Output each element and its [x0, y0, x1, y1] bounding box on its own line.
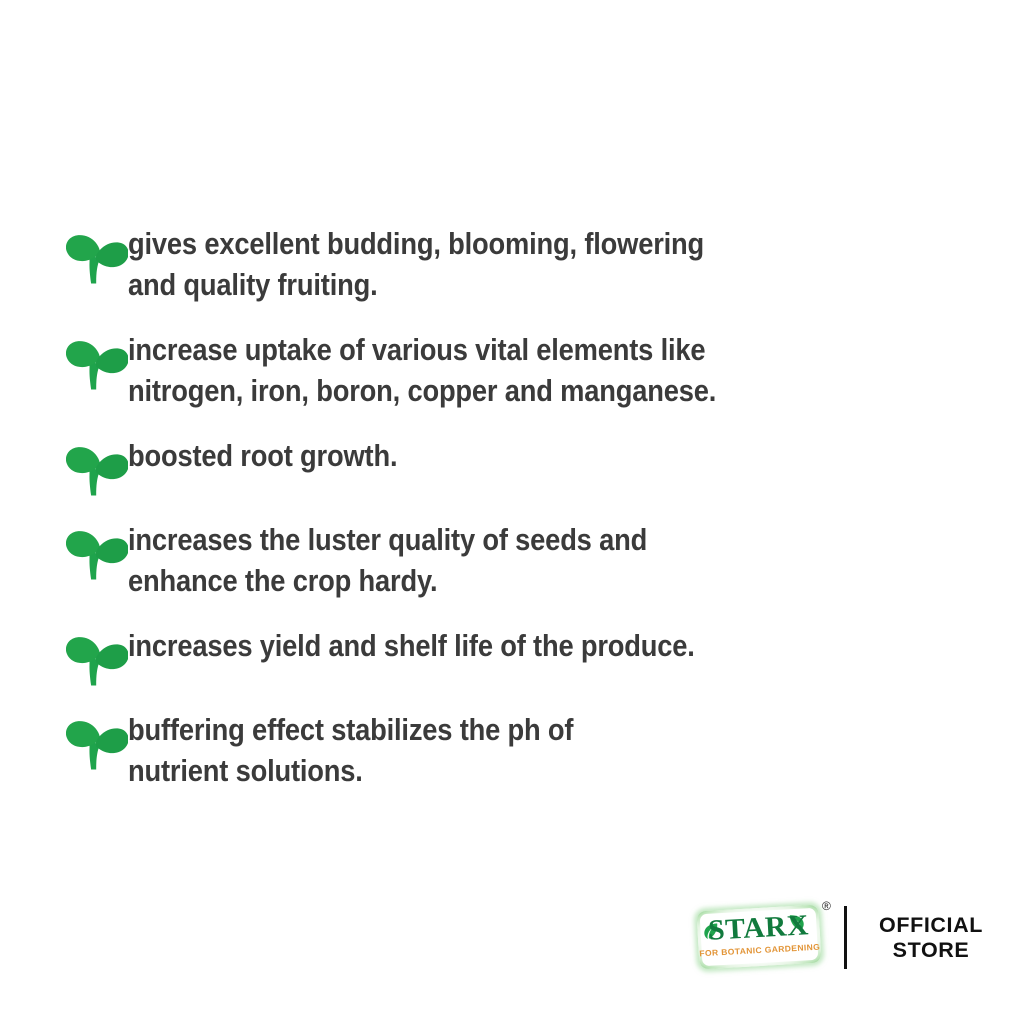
sprout-leaf-icon [66, 628, 128, 686]
official-store-line1: OFFICIAL [879, 913, 983, 937]
sprout-leaf-icon [66, 438, 128, 496]
registered-trademark-mark: ® [822, 900, 831, 912]
list-item: buffering effect stabilizes the ph of nu… [66, 708, 976, 792]
benefit-text: gives excellent budding, blooming, flowe… [128, 222, 887, 306]
sprout-leaf-icon [66, 332, 128, 390]
list-item: boosted root growth. [66, 434, 976, 496]
official-store-line2: STORE [869, 938, 993, 963]
list-item: increase uptake of various vital element… [66, 328, 976, 412]
starx-wordmark: STARX [696, 910, 822, 947]
brand-lockup: STARX FOR BOTANIC GARDENING ® OFFICIAL S… [693, 896, 993, 982]
starx-logo: STARX FOR BOTANIC GARDENING [696, 905, 821, 970]
brand-divider [844, 906, 847, 969]
benefit-text: increases yield and shelf life of the pr… [128, 624, 887, 667]
benefit-text: increase uptake of various vital element… [128, 328, 887, 412]
sprout-leaf-icon [66, 522, 128, 580]
official-store-label: OFFICIAL STORE [869, 913, 993, 963]
sprout-leaf-icon [66, 712, 128, 770]
sprout-leaf-icon [66, 226, 128, 284]
list-item: gives excellent budding, blooming, flowe… [66, 222, 976, 306]
list-item: increases yield and shelf life of the pr… [66, 624, 976, 686]
benefits-list: gives excellent budding, blooming, flowe… [66, 222, 976, 814]
benefit-text: increases the luster quality of seeds an… [128, 518, 887, 602]
page-root: gives excellent budding, blooming, flowe… [0, 0, 1024, 1024]
list-item: increases the luster quality of seeds an… [66, 518, 976, 602]
benefit-text: boosted root growth. [128, 434, 887, 477]
benefit-text: buffering effect stabilizes the ph of nu… [128, 708, 887, 792]
